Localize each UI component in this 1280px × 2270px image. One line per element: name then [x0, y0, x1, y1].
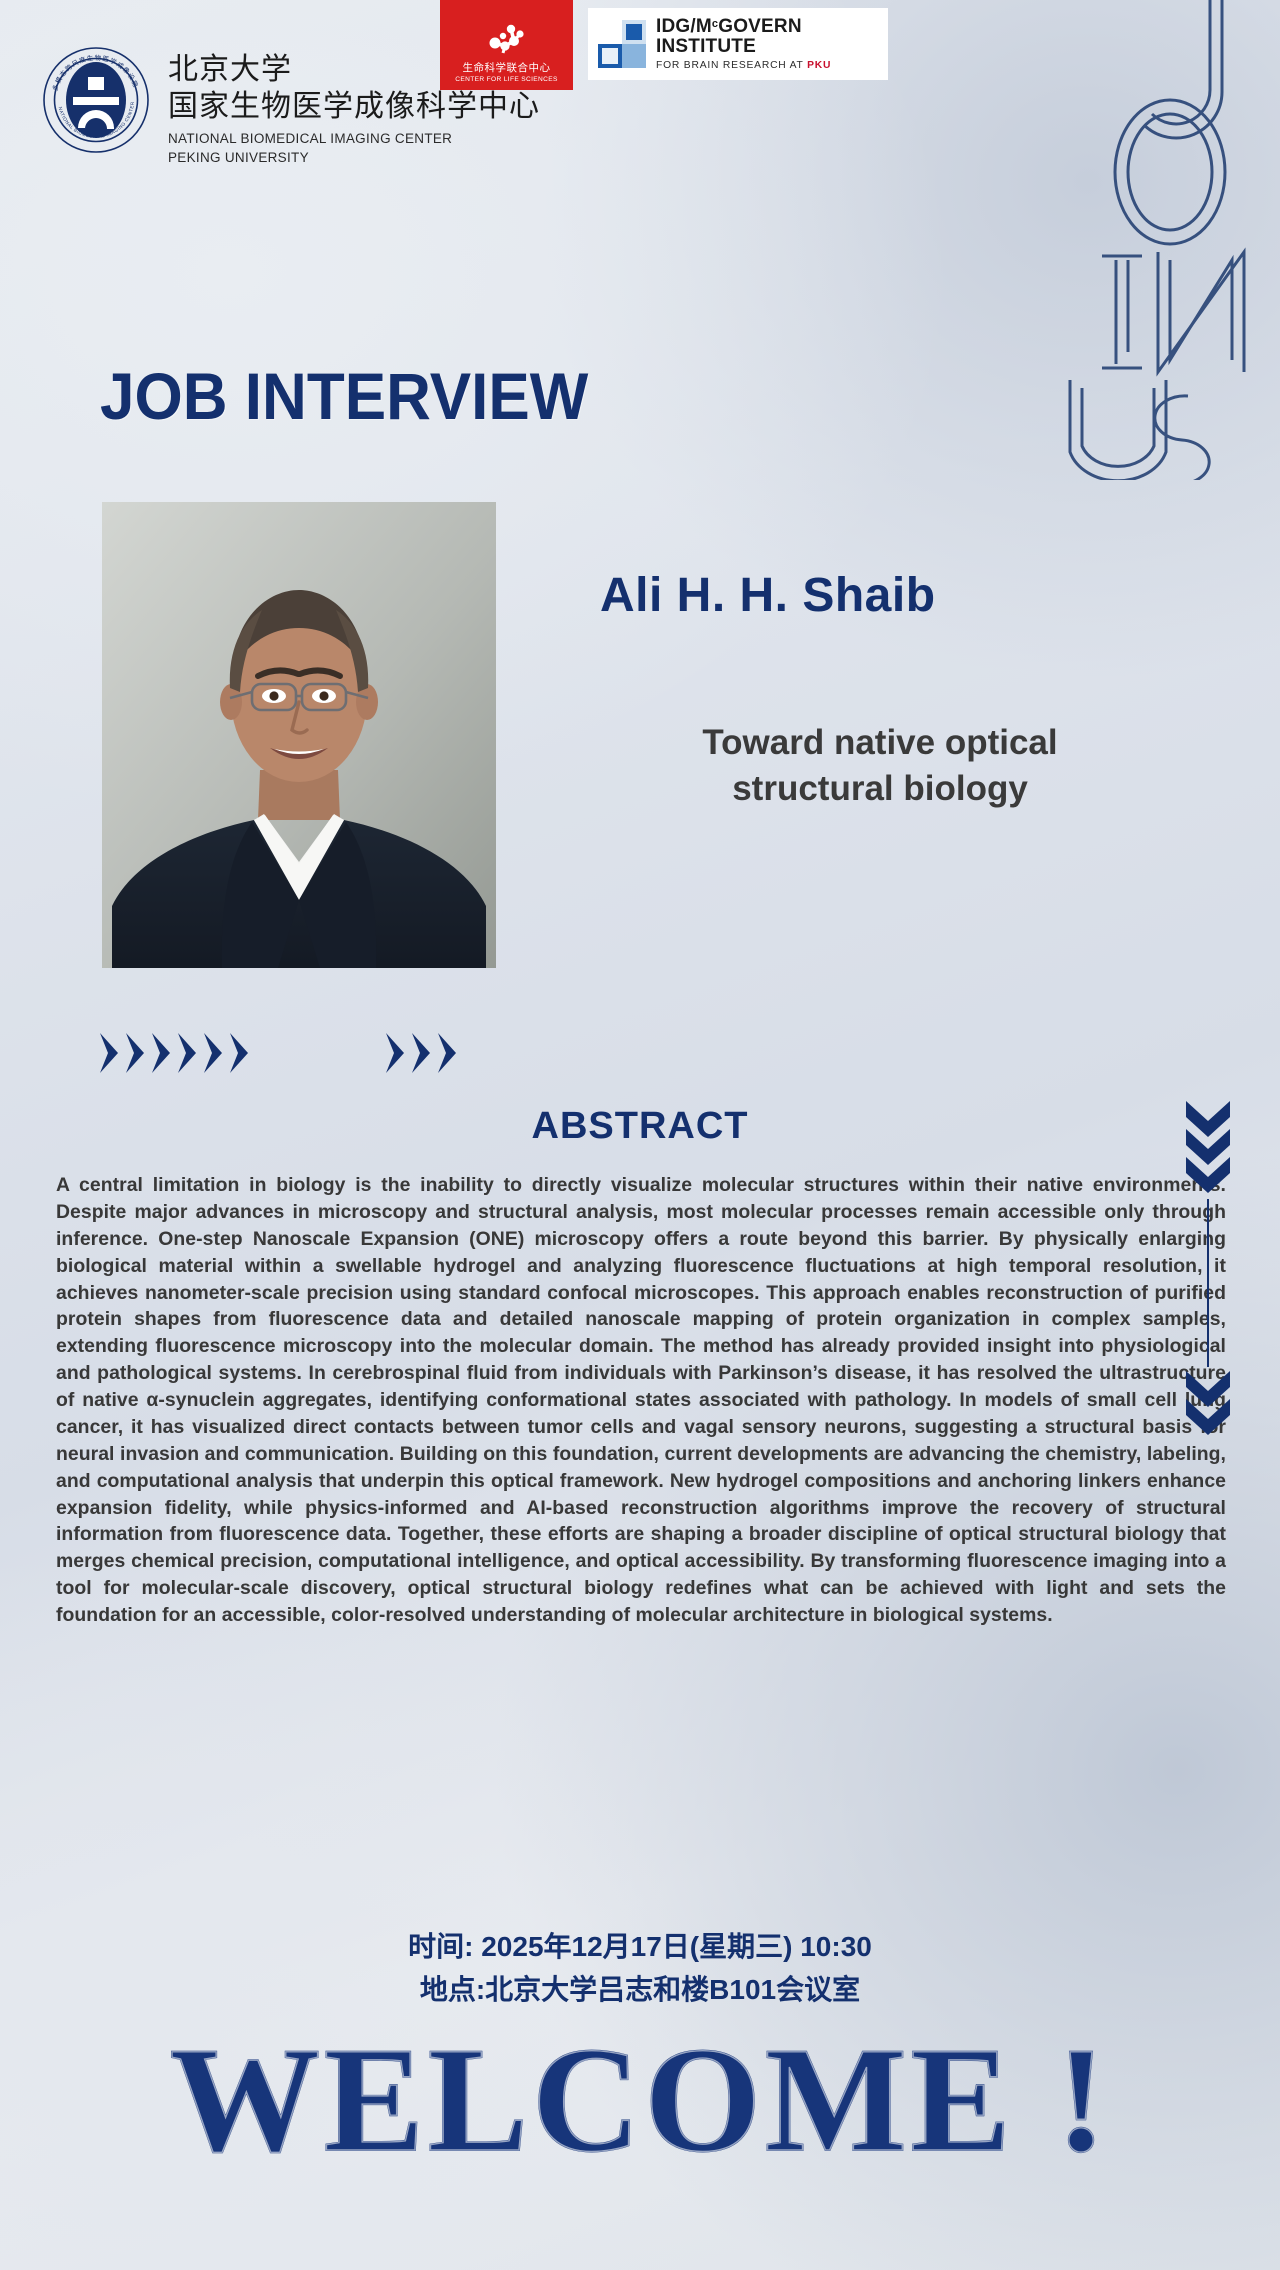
idg-name-main: IDG/M [656, 16, 712, 37]
chevron-group-right [382, 1031, 460, 1075]
event-time: 时间: 2025年12月17日(星期三) 10:30 [0, 1925, 1280, 1965]
abstract-heading: ABSTRACT [0, 1105, 1280, 1148]
idg-mcgovern-logo: IDG/McGOVERN INSTITUTE FOR BRAIN RESEARC… [588, 8, 888, 80]
idg-subtitle: FOR BRAIN RESEARCH AT PKU [656, 61, 880, 72]
page-title: JOB INTERVIEW [100, 358, 588, 434]
idg-subtitle-highlight: PKU [807, 60, 831, 71]
nbic-cn-line2: 国家生物医学成像科学中心 [168, 89, 540, 126]
nbic-en-line2: PEKING UNIVERSITY [168, 149, 540, 168]
chevron-right-icon [382, 1031, 408, 1075]
svg-text:WELCOME !: WELCOME ! [170, 2017, 1110, 2183]
chevron-right-icon [122, 1031, 148, 1075]
speaker-name: Ali H. H. Shaib [600, 568, 1240, 623]
cls-logo: 生命科学联合中心 CENTER FOR LIFE SCIENCES [440, 0, 573, 90]
down-arrows-decoration [1178, 1095, 1238, 1475]
chevron-right-icon [96, 1031, 122, 1075]
cls-cn-label: 生命科学联合中心 [463, 63, 551, 75]
chevron-group-left [96, 1031, 252, 1075]
talk-title: Toward native optical structural biology [520, 720, 1240, 811]
chevron-right-icon [200, 1031, 226, 1075]
chevron-right-icon [408, 1031, 434, 1075]
welcome-banner: WELCOME ! WELCOME ! [0, 2010, 1280, 2210]
chevron-right-icon [148, 1031, 174, 1075]
chevron-right-icon [174, 1031, 200, 1075]
chevron-right-icon [226, 1031, 252, 1075]
cls-en-label: CENTER FOR LIFE SCIENCES [455, 76, 558, 83]
speaker-photo [102, 502, 496, 968]
molecule-icon [484, 19, 530, 59]
nbic-en-line1: NATIONAL BIOMEDICAL IMAGING CENTER [168, 130, 540, 149]
talk-title-line2: structural biology [520, 766, 1240, 812]
idg-square-mark [596, 18, 648, 70]
idg-name: IDG/McGOVERN INSTITUTE [656, 17, 880, 57]
talk-title-line1: Toward native optical [520, 720, 1240, 766]
idg-subtitle-prefix: FOR BRAIN RESEARCH AT [656, 60, 807, 71]
seminar-poster: 多模态跨尺度生物医学成像设施 NATIONAL BIOMEDICAL IMAGI… [0, 0, 1280, 2270]
event-location: 地点:北京大学吕志和楼B101会议室 [0, 1968, 1280, 2008]
chevron-right-icon [434, 1031, 460, 1075]
abstract-body: A central limitation in biology is the i… [56, 1172, 1226, 1629]
nbic-seal-logo: 多模态跨尺度生物医学成像设施 NATIONAL BIOMEDICAL IMAGI… [42, 46, 150, 154]
